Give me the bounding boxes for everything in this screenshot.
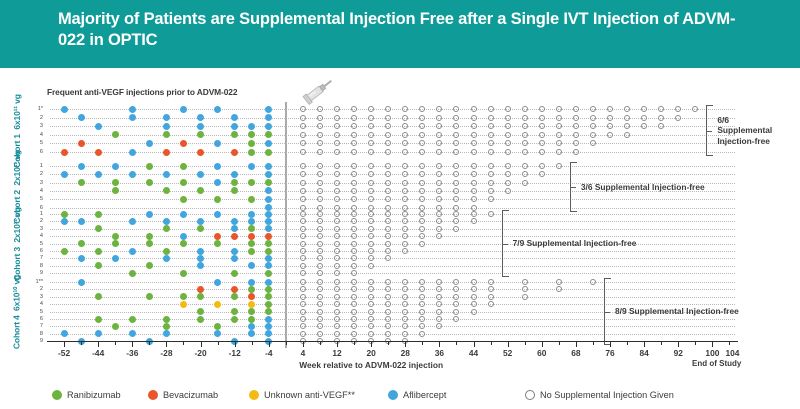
no-injection-marker[interactable] xyxy=(641,115,647,121)
no-injection-marker[interactable] xyxy=(539,171,545,177)
injection-dot[interactable] xyxy=(265,140,272,147)
no-injection-marker[interactable] xyxy=(351,263,357,269)
no-injection-marker[interactable] xyxy=(385,132,391,138)
no-injection-marker[interactable] xyxy=(300,286,306,292)
injection-dot[interactable] xyxy=(214,279,221,286)
injection-dot[interactable] xyxy=(197,114,204,121)
injection-dot[interactable] xyxy=(112,131,119,138)
no-injection-marker[interactable] xyxy=(351,279,357,285)
injection-dot[interactable] xyxy=(231,233,238,240)
no-injection-marker[interactable] xyxy=(402,205,408,211)
no-injection-marker[interactable] xyxy=(556,123,562,129)
no-injection-marker[interactable] xyxy=(488,123,494,129)
no-injection-marker[interactable] xyxy=(419,233,425,239)
no-injection-marker[interactable] xyxy=(300,115,306,121)
injection-dot[interactable] xyxy=(180,179,187,186)
injection-dot[interactable] xyxy=(248,233,255,240)
no-injection-marker[interactable] xyxy=(317,171,323,177)
no-injection-marker[interactable] xyxy=(317,309,323,315)
no-injection-marker[interactable] xyxy=(300,132,306,138)
no-injection-marker[interactable] xyxy=(573,123,579,129)
no-injection-marker[interactable] xyxy=(351,115,357,121)
no-injection-marker[interactable] xyxy=(368,196,374,202)
no-injection-marker[interactable] xyxy=(539,115,545,121)
injection-dot[interactable] xyxy=(163,218,170,225)
injection-dot[interactable] xyxy=(129,270,136,277)
no-injection-marker[interactable] xyxy=(471,106,477,112)
no-injection-marker[interactable] xyxy=(317,211,323,217)
no-injection-marker[interactable] xyxy=(436,286,442,292)
no-injection-marker[interactable] xyxy=(402,286,408,292)
injection-dot[interactable] xyxy=(231,131,238,138)
no-injection-marker[interactable] xyxy=(385,163,391,169)
no-injection-marker[interactable] xyxy=(334,123,340,129)
no-injection-marker[interactable] xyxy=(368,233,374,239)
injection-dot[interactable] xyxy=(214,179,221,186)
no-injection-marker[interactable] xyxy=(488,115,494,121)
injection-dot[interactable] xyxy=(197,255,204,262)
no-injection-marker[interactable] xyxy=(419,140,425,146)
no-injection-marker[interactable] xyxy=(317,323,323,329)
injection-dot[interactable] xyxy=(214,196,221,203)
no-injection-marker[interactable] xyxy=(607,132,613,138)
injection-dot[interactable] xyxy=(146,211,153,218)
no-injection-marker[interactable] xyxy=(351,140,357,146)
no-injection-marker[interactable] xyxy=(436,106,442,112)
no-injection-marker[interactable] xyxy=(317,316,323,322)
no-injection-marker[interactable] xyxy=(453,286,459,292)
no-injection-marker[interactable] xyxy=(573,149,579,155)
no-injection-marker[interactable] xyxy=(300,149,306,155)
injection-dot[interactable] xyxy=(248,123,255,130)
no-injection-marker[interactable] xyxy=(624,115,630,121)
injection-dot[interactable] xyxy=(112,187,119,194)
no-injection-marker[interactable] xyxy=(317,218,323,224)
injection-dot[interactable] xyxy=(163,248,170,255)
no-injection-marker[interactable] xyxy=(471,149,477,155)
no-injection-marker[interactable] xyxy=(488,286,494,292)
injection-dot[interactable] xyxy=(265,123,272,130)
no-injection-marker[interactable] xyxy=(471,115,477,121)
no-injection-marker[interactable] xyxy=(488,106,494,112)
injection-dot[interactable] xyxy=(197,293,204,300)
no-injection-marker[interactable] xyxy=(573,115,579,121)
injection-dot[interactable] xyxy=(248,248,255,255)
no-injection-marker[interactable] xyxy=(334,233,340,239)
no-injection-marker[interactable] xyxy=(368,316,374,322)
injection-dot[interactable] xyxy=(95,149,102,156)
no-injection-marker[interactable] xyxy=(334,301,340,307)
injection-dot[interactable] xyxy=(248,262,255,269)
injection-dot[interactable] xyxy=(95,330,102,337)
no-injection-marker[interactable] xyxy=(385,196,391,202)
injection-dot[interactable] xyxy=(265,114,272,121)
no-injection-marker[interactable] xyxy=(317,270,323,276)
no-injection-marker[interactable] xyxy=(334,140,340,146)
no-injection-marker[interactable] xyxy=(436,171,442,177)
no-injection-marker[interactable] xyxy=(351,196,357,202)
no-injection-marker[interactable] xyxy=(624,132,630,138)
no-injection-marker[interactable] xyxy=(368,301,374,307)
no-injection-marker[interactable] xyxy=(471,205,477,211)
injection-dot[interactable] xyxy=(214,140,221,147)
injection-dot[interactable] xyxy=(265,196,272,203)
no-injection-marker[interactable] xyxy=(300,163,306,169)
injection-dot[interactable] xyxy=(265,279,272,286)
no-injection-marker[interactable] xyxy=(385,205,391,211)
no-injection-marker[interactable] xyxy=(522,140,528,146)
no-injection-marker[interactable] xyxy=(419,171,425,177)
injection-dot[interactable] xyxy=(197,218,204,225)
no-injection-marker[interactable] xyxy=(522,180,528,186)
no-injection-marker[interactable] xyxy=(334,180,340,186)
no-injection-marker[interactable] xyxy=(402,149,408,155)
no-injection-marker[interactable] xyxy=(675,115,681,121)
no-injection-marker[interactable] xyxy=(334,309,340,315)
injection-dot[interactable] xyxy=(197,123,204,130)
no-injection-marker[interactable] xyxy=(539,123,545,129)
injection-dot[interactable] xyxy=(231,187,238,194)
no-injection-marker[interactable] xyxy=(436,123,442,129)
no-injection-marker[interactable] xyxy=(556,106,562,112)
no-injection-marker[interactable] xyxy=(385,286,391,292)
no-injection-marker[interactable] xyxy=(488,140,494,146)
no-injection-marker[interactable] xyxy=(385,279,391,285)
injection-dot[interactable] xyxy=(214,330,221,337)
no-injection-marker[interactable] xyxy=(505,188,511,194)
no-injection-marker[interactable] xyxy=(402,323,408,329)
injection-dot[interactable] xyxy=(265,171,272,178)
injection-dot[interactable] xyxy=(180,196,187,203)
no-injection-marker[interactable] xyxy=(300,140,306,146)
no-injection-marker[interactable] xyxy=(300,211,306,217)
no-injection-marker[interactable] xyxy=(300,301,306,307)
no-injection-marker[interactable] xyxy=(453,196,459,202)
no-injection-marker[interactable] xyxy=(368,241,374,247)
injection-dot[interactable] xyxy=(265,204,272,211)
injection-dot[interactable] xyxy=(180,270,187,277)
injection-dot[interactable] xyxy=(248,218,255,225)
injection-dot[interactable] xyxy=(265,286,272,293)
injection-dot[interactable] xyxy=(95,123,102,130)
injection-dot[interactable] xyxy=(214,163,221,170)
no-injection-marker[interactable] xyxy=(436,149,442,155)
injection-dot[interactable] xyxy=(231,171,238,178)
injection-dot[interactable] xyxy=(112,179,119,186)
injection-dot[interactable] xyxy=(265,187,272,194)
no-injection-marker[interactable] xyxy=(351,123,357,129)
injection-dot[interactable] xyxy=(265,218,272,225)
injection-dot[interactable] xyxy=(231,225,238,232)
no-injection-marker[interactable] xyxy=(607,115,613,121)
injection-dot[interactable] xyxy=(214,106,221,113)
no-injection-marker[interactable] xyxy=(402,218,408,224)
no-injection-marker[interactable] xyxy=(402,248,408,254)
no-injection-marker[interactable] xyxy=(556,286,562,292)
no-injection-marker[interactable] xyxy=(641,123,647,129)
no-injection-marker[interactable] xyxy=(385,309,391,315)
no-injection-marker[interactable] xyxy=(692,106,698,112)
no-injection-marker[interactable] xyxy=(402,188,408,194)
no-injection-marker[interactable] xyxy=(453,279,459,285)
no-injection-marker[interactable] xyxy=(436,205,442,211)
no-injection-marker[interactable] xyxy=(522,279,528,285)
no-injection-marker[interactable] xyxy=(368,294,374,300)
no-injection-marker[interactable] xyxy=(385,180,391,186)
injection-dot[interactable] xyxy=(197,262,204,269)
no-injection-marker[interactable] xyxy=(522,123,528,129)
no-injection-marker[interactable] xyxy=(300,196,306,202)
injection-dot[interactable] xyxy=(61,218,68,225)
injection-dot[interactable] xyxy=(129,330,136,337)
injection-dot[interactable] xyxy=(248,301,255,308)
injection-dot[interactable] xyxy=(248,279,255,286)
no-injection-marker[interactable] xyxy=(368,263,374,269)
no-injection-marker[interactable] xyxy=(368,163,374,169)
no-injection-marker[interactable] xyxy=(368,149,374,155)
no-injection-marker[interactable] xyxy=(488,171,494,177)
no-injection-marker[interactable] xyxy=(436,294,442,300)
no-injection-marker[interactable] xyxy=(402,316,408,322)
no-injection-marker[interactable] xyxy=(471,171,477,177)
no-injection-marker[interactable] xyxy=(453,123,459,129)
no-injection-marker[interactable] xyxy=(402,106,408,112)
injection-dot[interactable] xyxy=(231,248,238,255)
no-injection-marker[interactable] xyxy=(368,255,374,261)
no-injection-marker[interactable] xyxy=(334,115,340,121)
no-injection-marker[interactable] xyxy=(368,205,374,211)
no-injection-marker[interactable] xyxy=(368,106,374,112)
no-injection-marker[interactable] xyxy=(453,188,459,194)
no-injection-marker[interactable] xyxy=(590,115,596,121)
no-injection-marker[interactable] xyxy=(368,171,374,177)
injection-dot[interactable] xyxy=(61,211,68,218)
no-injection-marker[interactable] xyxy=(317,279,323,285)
no-injection-marker[interactable] xyxy=(317,331,323,337)
no-injection-marker[interactable] xyxy=(300,188,306,194)
no-injection-marker[interactable] xyxy=(488,196,494,202)
no-injection-marker[interactable] xyxy=(419,205,425,211)
no-injection-marker[interactable] xyxy=(385,248,391,254)
no-injection-marker[interactable] xyxy=(471,218,477,224)
no-injection-marker[interactable] xyxy=(505,149,511,155)
no-injection-marker[interactable] xyxy=(317,123,323,129)
no-injection-marker[interactable] xyxy=(351,163,357,169)
no-injection-marker[interactable] xyxy=(419,309,425,315)
no-injection-marker[interactable] xyxy=(471,279,477,285)
no-injection-marker[interactable] xyxy=(317,226,323,232)
no-injection-marker[interactable] xyxy=(334,163,340,169)
no-injection-marker[interactable] xyxy=(539,163,545,169)
injection-dot[interactable] xyxy=(95,211,102,218)
no-injection-marker[interactable] xyxy=(334,241,340,247)
no-injection-marker[interactable] xyxy=(453,180,459,186)
no-injection-marker[interactable] xyxy=(436,323,442,329)
no-injection-marker[interactable] xyxy=(471,132,477,138)
no-injection-marker[interactable] xyxy=(624,123,630,129)
no-injection-marker[interactable] xyxy=(488,188,494,194)
injection-dot[interactable] xyxy=(248,316,255,323)
injection-dot[interactable] xyxy=(231,114,238,121)
injection-dot[interactable] xyxy=(78,255,85,262)
injection-dot[interactable] xyxy=(163,323,170,330)
no-injection-marker[interactable] xyxy=(334,323,340,329)
injection-dot[interactable] xyxy=(95,248,102,255)
injection-dot[interactable] xyxy=(78,179,85,186)
no-injection-marker[interactable] xyxy=(385,294,391,300)
no-injection-marker[interactable] xyxy=(402,115,408,121)
injection-dot[interactable] xyxy=(197,248,204,255)
injection-dot[interactable] xyxy=(78,240,85,247)
no-injection-marker[interactable] xyxy=(334,316,340,322)
no-injection-marker[interactable] xyxy=(402,180,408,186)
no-injection-marker[interactable] xyxy=(488,294,494,300)
no-injection-marker[interactable] xyxy=(351,106,357,112)
no-injection-marker[interactable] xyxy=(368,279,374,285)
no-injection-marker[interactable] xyxy=(317,205,323,211)
injection-dot[interactable] xyxy=(248,149,255,156)
no-injection-marker[interactable] xyxy=(522,286,528,292)
no-injection-marker[interactable] xyxy=(368,211,374,217)
no-injection-marker[interactable] xyxy=(368,180,374,186)
injection-dot[interactable] xyxy=(265,233,272,240)
no-injection-marker[interactable] xyxy=(590,106,596,112)
injection-dot[interactable] xyxy=(214,233,221,240)
no-injection-marker[interactable] xyxy=(351,171,357,177)
no-injection-marker[interactable] xyxy=(317,255,323,261)
no-injection-marker[interactable] xyxy=(419,331,425,337)
injection-dot[interactable] xyxy=(265,323,272,330)
no-injection-marker[interactable] xyxy=(300,241,306,247)
no-injection-marker[interactable] xyxy=(436,218,442,224)
injection-dot[interactable] xyxy=(197,149,204,156)
injection-dot[interactable] xyxy=(214,211,221,218)
no-injection-marker[interactable] xyxy=(300,270,306,276)
no-injection-marker[interactable] xyxy=(300,279,306,285)
no-injection-marker[interactable] xyxy=(385,106,391,112)
injection-dot[interactable] xyxy=(265,225,272,232)
no-injection-marker[interactable] xyxy=(419,286,425,292)
no-injection-marker[interactable] xyxy=(488,149,494,155)
injection-dot[interactable] xyxy=(248,240,255,247)
no-injection-marker[interactable] xyxy=(402,123,408,129)
no-injection-marker[interactable] xyxy=(385,316,391,322)
injection-dot[interactable] xyxy=(231,179,238,186)
injection-dot[interactable] xyxy=(214,301,221,308)
no-injection-marker[interactable] xyxy=(402,279,408,285)
no-injection-marker[interactable] xyxy=(607,106,613,112)
no-injection-marker[interactable] xyxy=(385,331,391,337)
injection-dot[interactable] xyxy=(180,240,187,247)
no-injection-marker[interactable] xyxy=(436,233,442,239)
injection-dot[interactable] xyxy=(78,114,85,121)
no-injection-marker[interactable] xyxy=(300,171,306,177)
no-injection-marker[interactable] xyxy=(368,331,374,337)
legend-item-4[interactable]: No Supplemental Injection Given xyxy=(525,390,674,400)
injection-dot[interactable] xyxy=(163,123,170,130)
injection-dot[interactable] xyxy=(248,140,255,147)
no-injection-marker[interactable] xyxy=(471,180,477,186)
no-injection-marker[interactable] xyxy=(317,188,323,194)
injection-dot[interactable] xyxy=(163,330,170,337)
no-injection-marker[interactable] xyxy=(590,279,596,285)
no-injection-marker[interactable] xyxy=(334,106,340,112)
no-injection-marker[interactable] xyxy=(522,171,528,177)
no-injection-marker[interactable] xyxy=(402,331,408,337)
injection-dot[interactable] xyxy=(129,218,136,225)
no-injection-marker[interactable] xyxy=(402,196,408,202)
no-injection-marker[interactable] xyxy=(402,233,408,239)
injection-dot[interactable] xyxy=(214,240,221,247)
legend-item-1[interactable]: Bevacizumab xyxy=(148,390,218,400)
no-injection-marker[interactable] xyxy=(368,132,374,138)
no-injection-marker[interactable] xyxy=(334,248,340,254)
no-injection-marker[interactable] xyxy=(334,286,340,292)
no-injection-marker[interactable] xyxy=(402,132,408,138)
no-injection-marker[interactable] xyxy=(539,132,545,138)
no-injection-marker[interactable] xyxy=(471,188,477,194)
injection-dot[interactable] xyxy=(265,308,272,315)
no-injection-marker[interactable] xyxy=(317,294,323,300)
injection-dot[interactable] xyxy=(146,179,153,186)
no-injection-marker[interactable] xyxy=(368,226,374,232)
no-injection-marker[interactable] xyxy=(675,106,681,112)
injection-dot[interactable] xyxy=(78,218,85,225)
no-injection-marker[interactable] xyxy=(505,132,511,138)
no-injection-marker[interactable] xyxy=(471,211,477,217)
injection-dot[interactable] xyxy=(95,225,102,232)
injection-dot[interactable] xyxy=(248,286,255,293)
no-injection-marker[interactable] xyxy=(368,323,374,329)
injection-dot[interactable] xyxy=(248,323,255,330)
no-injection-marker[interactable] xyxy=(658,123,664,129)
injection-dot[interactable] xyxy=(265,255,272,262)
no-injection-marker[interactable] xyxy=(453,226,459,232)
no-injection-marker[interactable] xyxy=(488,279,494,285)
no-injection-marker[interactable] xyxy=(453,309,459,315)
no-injection-marker[interactable] xyxy=(471,286,477,292)
injection-dot[interactable] xyxy=(180,301,187,308)
no-injection-marker[interactable] xyxy=(436,279,442,285)
no-injection-marker[interactable] xyxy=(385,233,391,239)
injection-dot[interactable] xyxy=(78,140,85,147)
no-injection-marker[interactable] xyxy=(556,115,562,121)
no-injection-marker[interactable] xyxy=(334,255,340,261)
injection-dot[interactable] xyxy=(163,114,170,121)
injection-dot[interactable] xyxy=(95,293,102,300)
no-injection-marker[interactable] xyxy=(317,248,323,254)
injection-dot[interactable] xyxy=(265,301,272,308)
injection-dot[interactable] xyxy=(248,225,255,232)
no-injection-marker[interactable] xyxy=(317,196,323,202)
no-injection-marker[interactable] xyxy=(641,106,647,112)
no-injection-marker[interactable] xyxy=(385,255,391,261)
no-injection-marker[interactable] xyxy=(419,180,425,186)
no-injection-marker[interactable] xyxy=(334,218,340,224)
no-injection-marker[interactable] xyxy=(334,196,340,202)
injection-dot[interactable] xyxy=(146,140,153,147)
no-injection-marker[interactable] xyxy=(471,163,477,169)
no-injection-marker[interactable] xyxy=(300,316,306,322)
no-injection-marker[interactable] xyxy=(522,149,528,155)
injection-dot[interactable] xyxy=(180,140,187,147)
no-injection-marker[interactable] xyxy=(419,226,425,232)
no-injection-marker[interactable] xyxy=(334,211,340,217)
no-injection-marker[interactable] xyxy=(436,115,442,121)
no-injection-marker[interactable] xyxy=(351,188,357,194)
no-injection-marker[interactable] xyxy=(556,132,562,138)
injection-dot[interactable] xyxy=(197,286,204,293)
